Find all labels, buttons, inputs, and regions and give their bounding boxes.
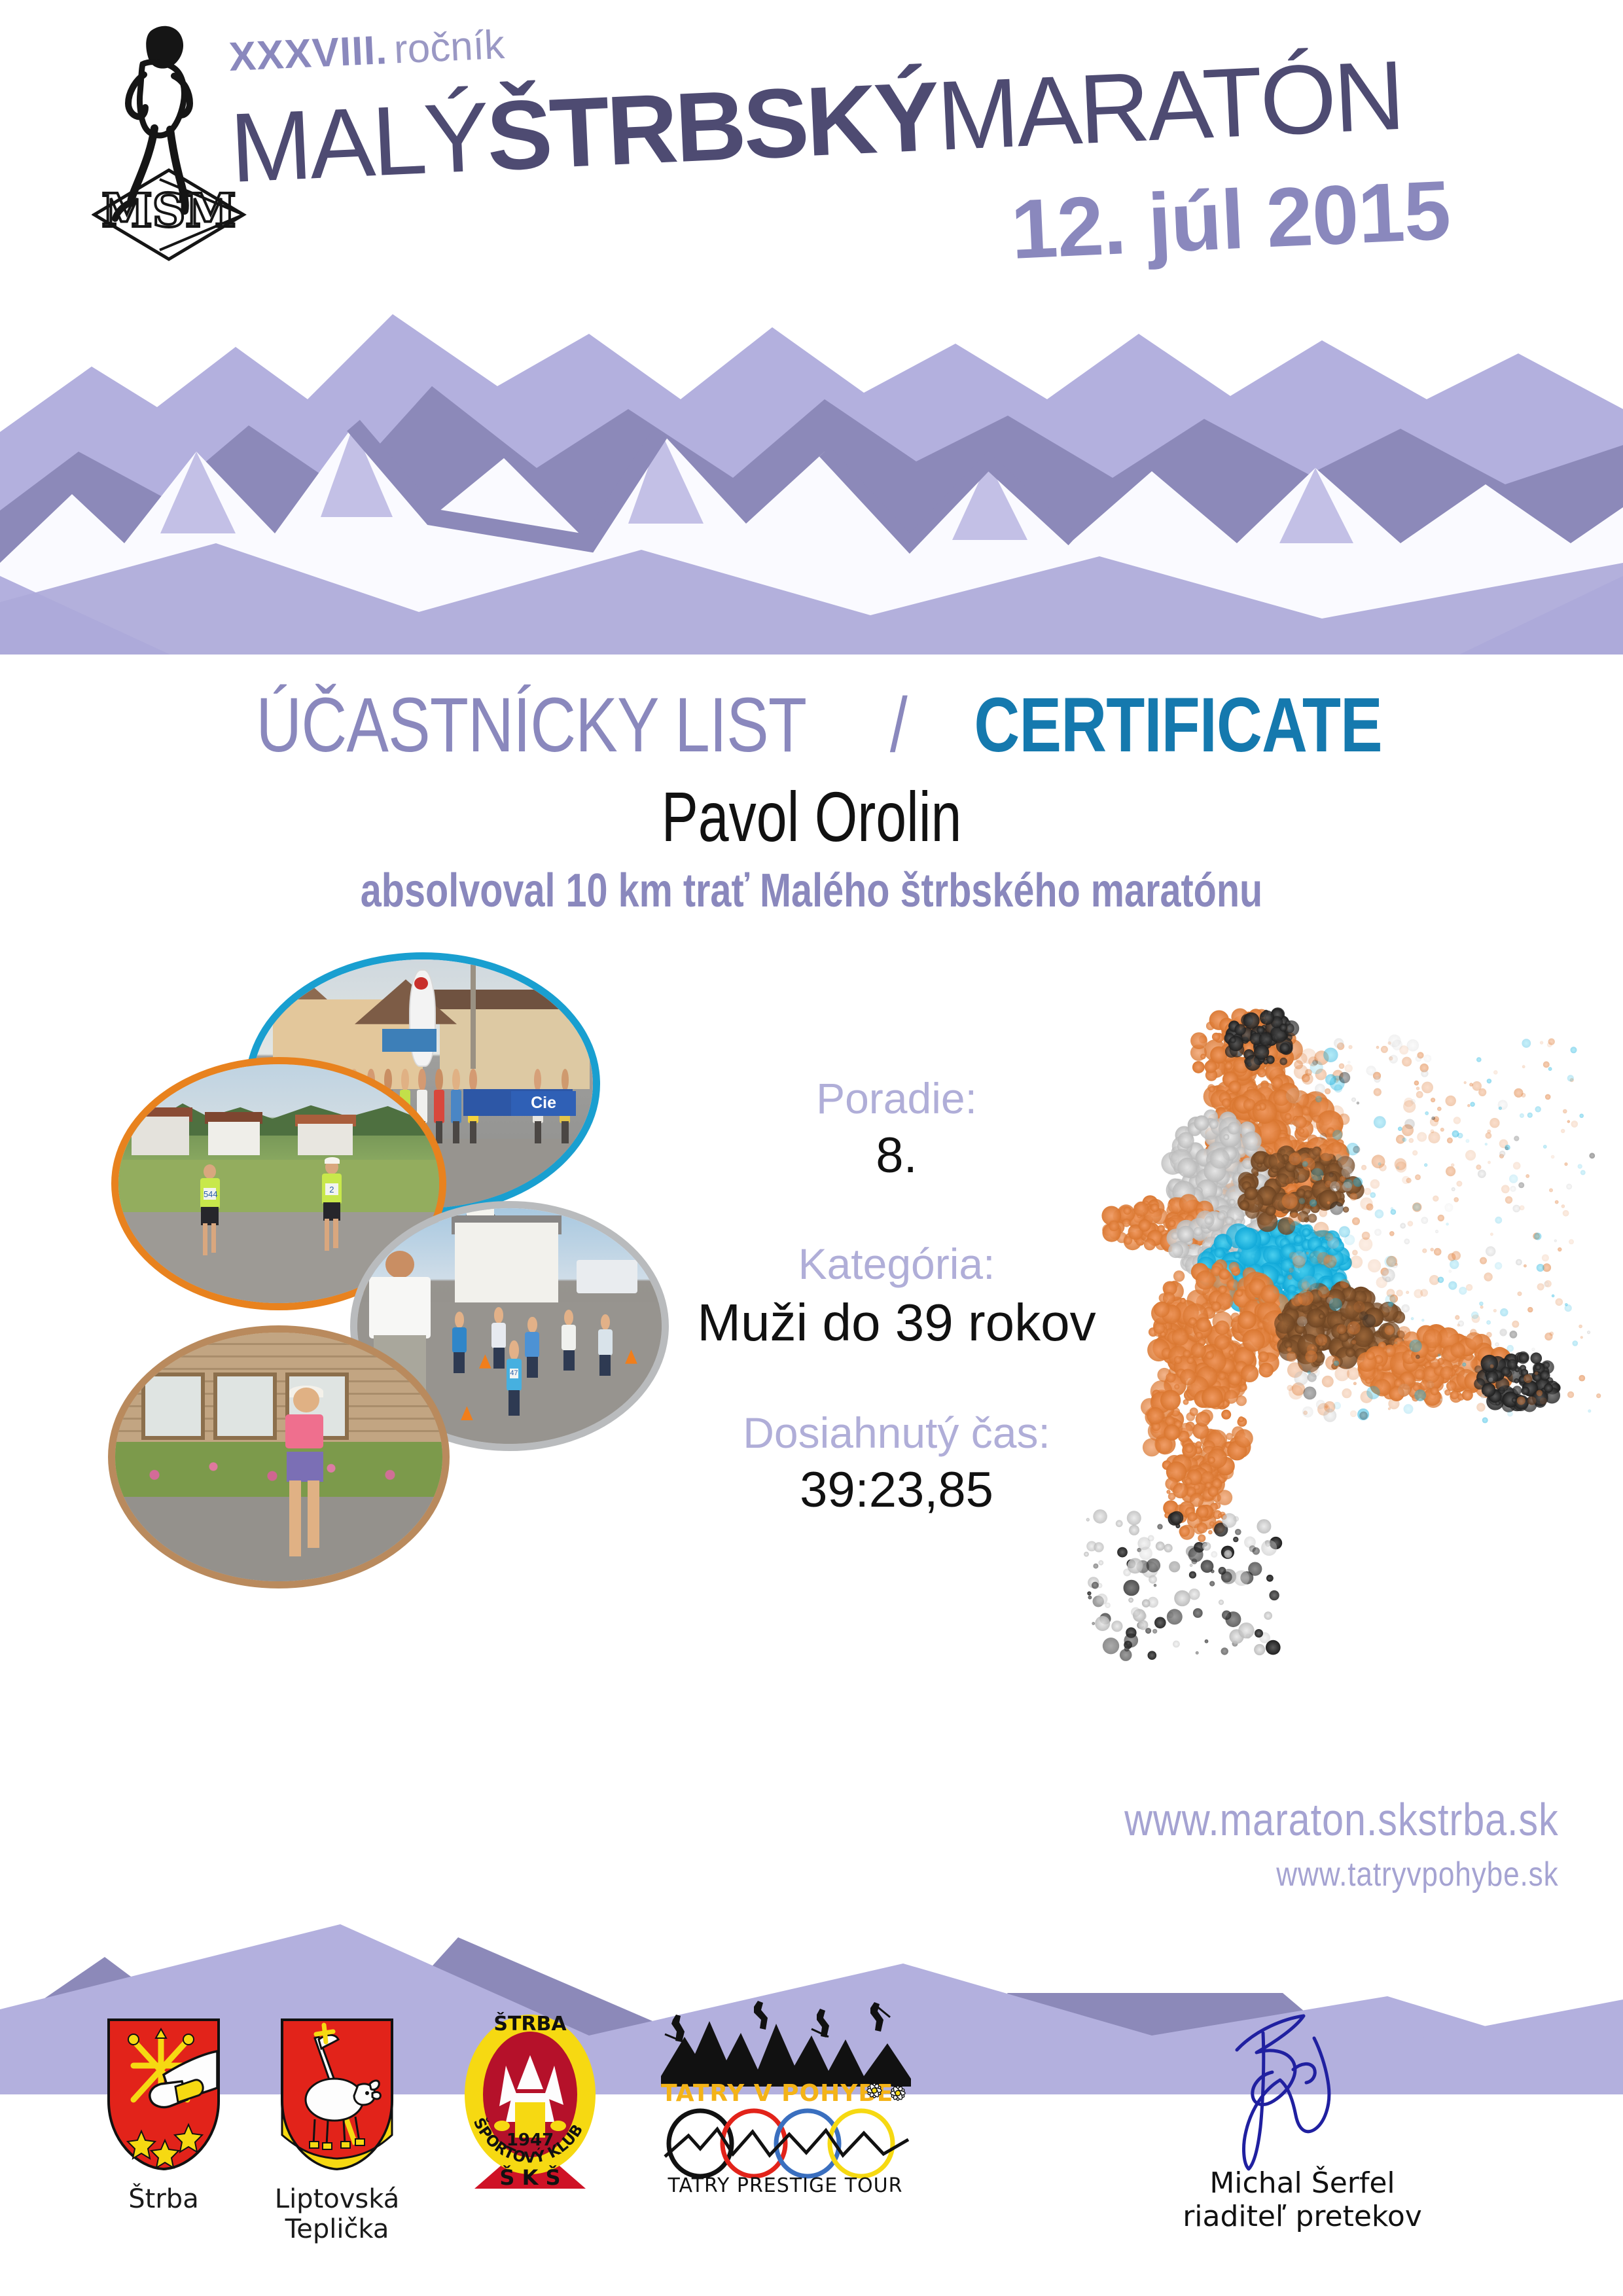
photo-collage: Cie 544 2: [92, 942, 641, 1846]
signature-role: riaditeľ pretekov: [1073, 2200, 1531, 2233]
liptovska-teplicka-logo-caption: Liptovská Teplička: [262, 2184, 412, 2245]
edition-word: ročník: [393, 22, 506, 73]
liptovska-teplicka-logo-block: Liptovská Teplička: [262, 2016, 412, 2245]
title-part-3: MARATÓN: [935, 40, 1404, 171]
sks-logo-block: ŠTRBA 1947 ŠPORTOVÝ KLUB Š K Š: [452, 2009, 609, 2196]
cie-banner-text: Cie: [511, 1091, 576, 1116]
woman-runner-photo: [108, 1325, 450, 1588]
certificate-title-en: CERTIFICATE: [974, 681, 1382, 770]
certificate-title-separator: /: [890, 681, 907, 770]
participant-description: absolvoval 10 km trať Malého štrbského m…: [162, 864, 1461, 918]
edition-roman: XXXVIII.: [228, 27, 388, 80]
edition-line: XXXVIII.ročník: [228, 22, 505, 81]
sks-club-logo-icon: ŠTRBA 1947 ŠPORTOVÝ KLUB Š K Š: [455, 2009, 605, 2193]
sks-top-text: ŠTRBA: [493, 2011, 567, 2036]
header-banner: MSM XXXVIII.ročník MALÝŠTRBSKÝMARATÓN 12…: [0, 0, 1623, 655]
participant-name: Pavol Orolin: [179, 776, 1444, 857]
title-part-1: MALÝ: [228, 81, 490, 203]
svg-text:MSM: MSM: [101, 183, 236, 238]
strba-coat-of-arms-icon: [105, 2016, 223, 2173]
tatry-prestige-tour-logo-icon: TATRY PRESTIGE TOUR: [654, 2108, 916, 2200]
tatry-logos-block: TATRY V POHYBE: [648, 1998, 923, 2203]
strba-logo-block: Štrba: [98, 2016, 229, 2214]
tatry-v-pohybe-logo-icon: TATRY V POHYBE: [654, 1998, 916, 2102]
signature-name: Michal Šerfel: [1073, 2166, 1531, 2200]
strba-logo-caption: Štrba: [98, 2184, 229, 2214]
particle-runner-graphic: [1001, 962, 1603, 1695]
signature-block: Michal Šerfel riaditeľ pretekov: [1073, 2009, 1531, 2233]
certificate-title-sk: ÚČASTNÍCKY LIST: [257, 681, 807, 770]
handwritten-signature-icon: [1165, 2009, 1440, 2173]
runner-bib-544: 544: [204, 1188, 216, 1200]
mountain-panorama-graphic: [0, 236, 1623, 655]
event-date: 12. júl 2015: [1009, 162, 1452, 278]
tatry-prestige-tour-caption: TATRY PRESTIGE TOUR: [668, 2174, 903, 2197]
kid-bib-47: 47: [510, 1369, 518, 1378]
runner-bib-2: 2: [325, 1183, 338, 1195]
sks-bottom-text: Š K Š: [499, 2164, 560, 2190]
liptovska-teplicka-coat-of-arms-icon: [278, 2016, 396, 2173]
title-part-2: ŠTRBSKÝ: [484, 61, 940, 191]
tatry-v-pohybe-caption: TATRY V POHYBE: [661, 2080, 893, 2102]
certificate-title: ÚČASTNÍCKY LIST / CERTIFICATE: [0, 681, 1623, 770]
url-main[interactable]: www.maraton.skstrba.sk: [1125, 1793, 1559, 1846]
footer-sponsors: Štrba: [0, 1983, 1623, 2291]
